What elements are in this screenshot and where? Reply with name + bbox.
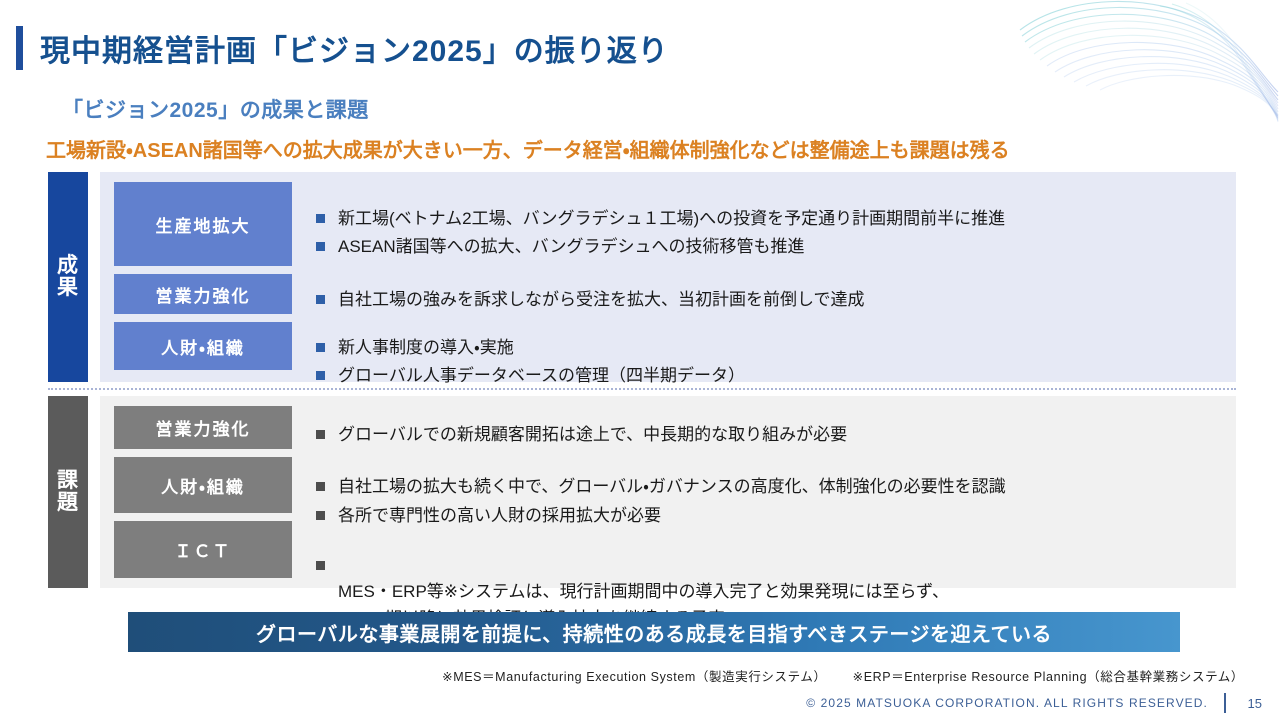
- bullet-square-icon: [316, 511, 325, 520]
- bullet-group-issue-hr: 自社工場の拡大も続く中で、グローバル・ガバナンスの高度化、体制強化の必要性を認識…: [316, 474, 1224, 529]
- bullet-group-achievement-hr: 新人事制度の導入・実施 グローバル人事データベースの管理（四半期データ）: [316, 335, 1224, 390]
- bullet-text: ASEAN諸国等への拡大、バングラデシュへの技術移管も推進: [338, 234, 1224, 260]
- list-item: グローバル人事データベースの管理（四半期データ）: [316, 363, 1224, 389]
- chip-list-issues: 営業力強化 人財・組織 ＩＣＴ: [114, 406, 292, 578]
- list-item: ASEAN諸国等への拡大、バングラデシュへの技術移管も推進: [316, 234, 1224, 260]
- bullet-square-icon: [316, 430, 325, 439]
- bullet-square-icon: [316, 242, 325, 251]
- chip-list-achievements: 生産地拡大 営業力強化 人財・組織: [114, 182, 292, 372]
- bullet-square-icon: [316, 214, 325, 223]
- bullet-square-icon: [316, 371, 325, 380]
- bullet-text: 新工場(ベトナム2工場、バングラデシュ１工場)への投資を予定通り計画期間前半に推…: [338, 206, 1224, 232]
- title-accent-bar: [16, 26, 23, 70]
- title-text: 現中期経営計画「ビジョン2025」の振り返り: [40, 26, 669, 70]
- bullet-group-issue-sales: グローバルでの新規顧客開拓は途上で、中長期的な取り組みが必要: [316, 422, 1224, 448]
- section-label-achievements-line2: 果: [57, 277, 79, 299]
- panel-achievements: 生産地拡大 営業力強化 人財・組織 新工場(ベトナム2工場、バングラデシュ１工場…: [100, 172, 1236, 382]
- section-label-achievements-line1: 成: [57, 255, 79, 277]
- bullet-text: グローバル人事データベースの管理（四半期データ）: [338, 363, 1224, 389]
- bullet-square-icon: [316, 561, 325, 570]
- bullet-list-issues: グローバルでの新規顧客開拓は途上で、中長期的な取り組みが必要 自社工場の拡大も続…: [316, 406, 1236, 578]
- footnote-erp: ※ERP＝Enterprise Resource Planning（総合基幹業務…: [853, 670, 1244, 684]
- list-item: 自社工場の拡大も続く中で、グローバル・ガバナンスの高度化、体制強化の必要性を認識: [316, 474, 1224, 500]
- bullet-text: 各所で専門性の高い人財の採用拡大が必要: [338, 503, 1224, 529]
- slide-canvas: 現中期経営計画「ビジョン2025」の振り返り 「ビジョン2025」の成果と課題 …: [0, 0, 1280, 720]
- chip-achievement-sales[interactable]: 営業力強化: [114, 274, 292, 314]
- bullet-square-icon: [316, 295, 325, 304]
- bullet-text-line1: MES・ERP等※システムは、現行計画期間中の導入完了と効果発現には至らず、: [338, 582, 949, 601]
- section-label-issues: 課 題: [48, 396, 88, 588]
- section-divider: [48, 388, 1236, 390]
- list-item: 各所で専門性の高い人財の採用拡大が必要: [316, 503, 1224, 529]
- bullet-list-achievements: 新工場(ベトナム2工場、バングラデシュ１工場)への投資を予定通り計画期間前半に推…: [316, 182, 1236, 372]
- bullet-text: 新人事制度の導入・実施: [338, 335, 1224, 361]
- list-item: 新人事制度の導入・実施: [316, 335, 1224, 361]
- bullet-text: グローバルでの新規顧客開拓は途上で、中長期的な取り組みが必要: [338, 422, 1224, 448]
- bullet-text: 自社工場の拡大も続く中で、グローバル・ガバナンスの高度化、体制強化の必要性を認識: [338, 474, 1224, 500]
- section-issues: 課 題 営業力強化 人財・組織 ＩＣＴ グローバルでの新規顧客開拓は途上で、中長…: [48, 396, 1236, 588]
- section-label-issues-line1: 課: [57, 470, 79, 492]
- panel-issues: 営業力強化 人財・組織 ＩＣＴ グローバルでの新規顧客開拓は途上で、中長期的な取…: [100, 396, 1236, 588]
- copyright-text: © 2025 MATSUOKA CORPORATION. ALL RIGHTS …: [806, 696, 1208, 710]
- chip-achievement-hr[interactable]: 人財・組織: [114, 322, 292, 370]
- list-item: 自社工場の強みを訴求しながら受注を拡大、当初計画を前倒しで達成: [316, 287, 1224, 313]
- ribbon-decoration-icon: [1010, 0, 1280, 135]
- bullet-group-achievement-sales: 自社工場の強みを訴求しながら受注を拡大、当初計画を前倒しで達成: [316, 287, 1224, 313]
- footnote-mes: ※MES＝Manufacturing Execution System（製造実行…: [442, 670, 826, 684]
- conclusion-banner: グローバルな事業展開を前提に、持続性のある成長を目指すべきステージを迎えている: [128, 612, 1180, 652]
- chip-issue-ict[interactable]: ＩＣＴ: [114, 521, 292, 578]
- footnote-row: ※MES＝Manufacturing Execution System（製造実行…: [0, 666, 1244, 685]
- slide-footer: © 2025 MATSUOKA CORPORATION. ALL RIGHTS …: [806, 692, 1262, 714]
- page-number: 15: [1244, 696, 1262, 711]
- list-item: 新工場(ベトナム2工場、バングラデシュ１工場)への投資を予定通り計画期間前半に推…: [316, 206, 1224, 232]
- lead-summary-text: 工場新設・ASEAN諸国等への拡大成果が大きい一方、データ経営・組織体制強化など…: [46, 134, 1010, 163]
- bullet-square-icon: [316, 482, 325, 491]
- section-label-achievements: 成 果: [48, 172, 88, 382]
- bullet-group-achievement-production: 新工場(ベトナム2工場、バングラデシュ１工場)への投資を予定通り計画期間前半に推…: [316, 206, 1224, 261]
- list-item: グローバルでの新規顧客開拓は途上で、中長期的な取り組みが必要: [316, 422, 1224, 448]
- page-title: 現中期経営計画「ビジョン2025」の振り返り: [16, 26, 669, 70]
- chip-issue-hr[interactable]: 人財・組織: [114, 457, 292, 514]
- chip-achievement-production[interactable]: 生産地拡大: [114, 182, 292, 266]
- section-achievements: 成 果 生産地拡大 営業力強化 人財・組織 新工場(ベトナム2工場、バングラデシ…: [48, 172, 1236, 382]
- bullet-square-icon: [316, 343, 325, 352]
- section-label-issues-line2: 題: [57, 492, 79, 514]
- subtitle-text: 「ビジョン2025」の成果と課題: [62, 94, 369, 124]
- bullet-text: 自社工場の強みを訴求しながら受注を拡大、当初計画を前倒しで達成: [338, 287, 1224, 313]
- chip-issue-sales[interactable]: 営業力強化: [114, 406, 292, 449]
- footer-divider: [1224, 693, 1226, 713]
